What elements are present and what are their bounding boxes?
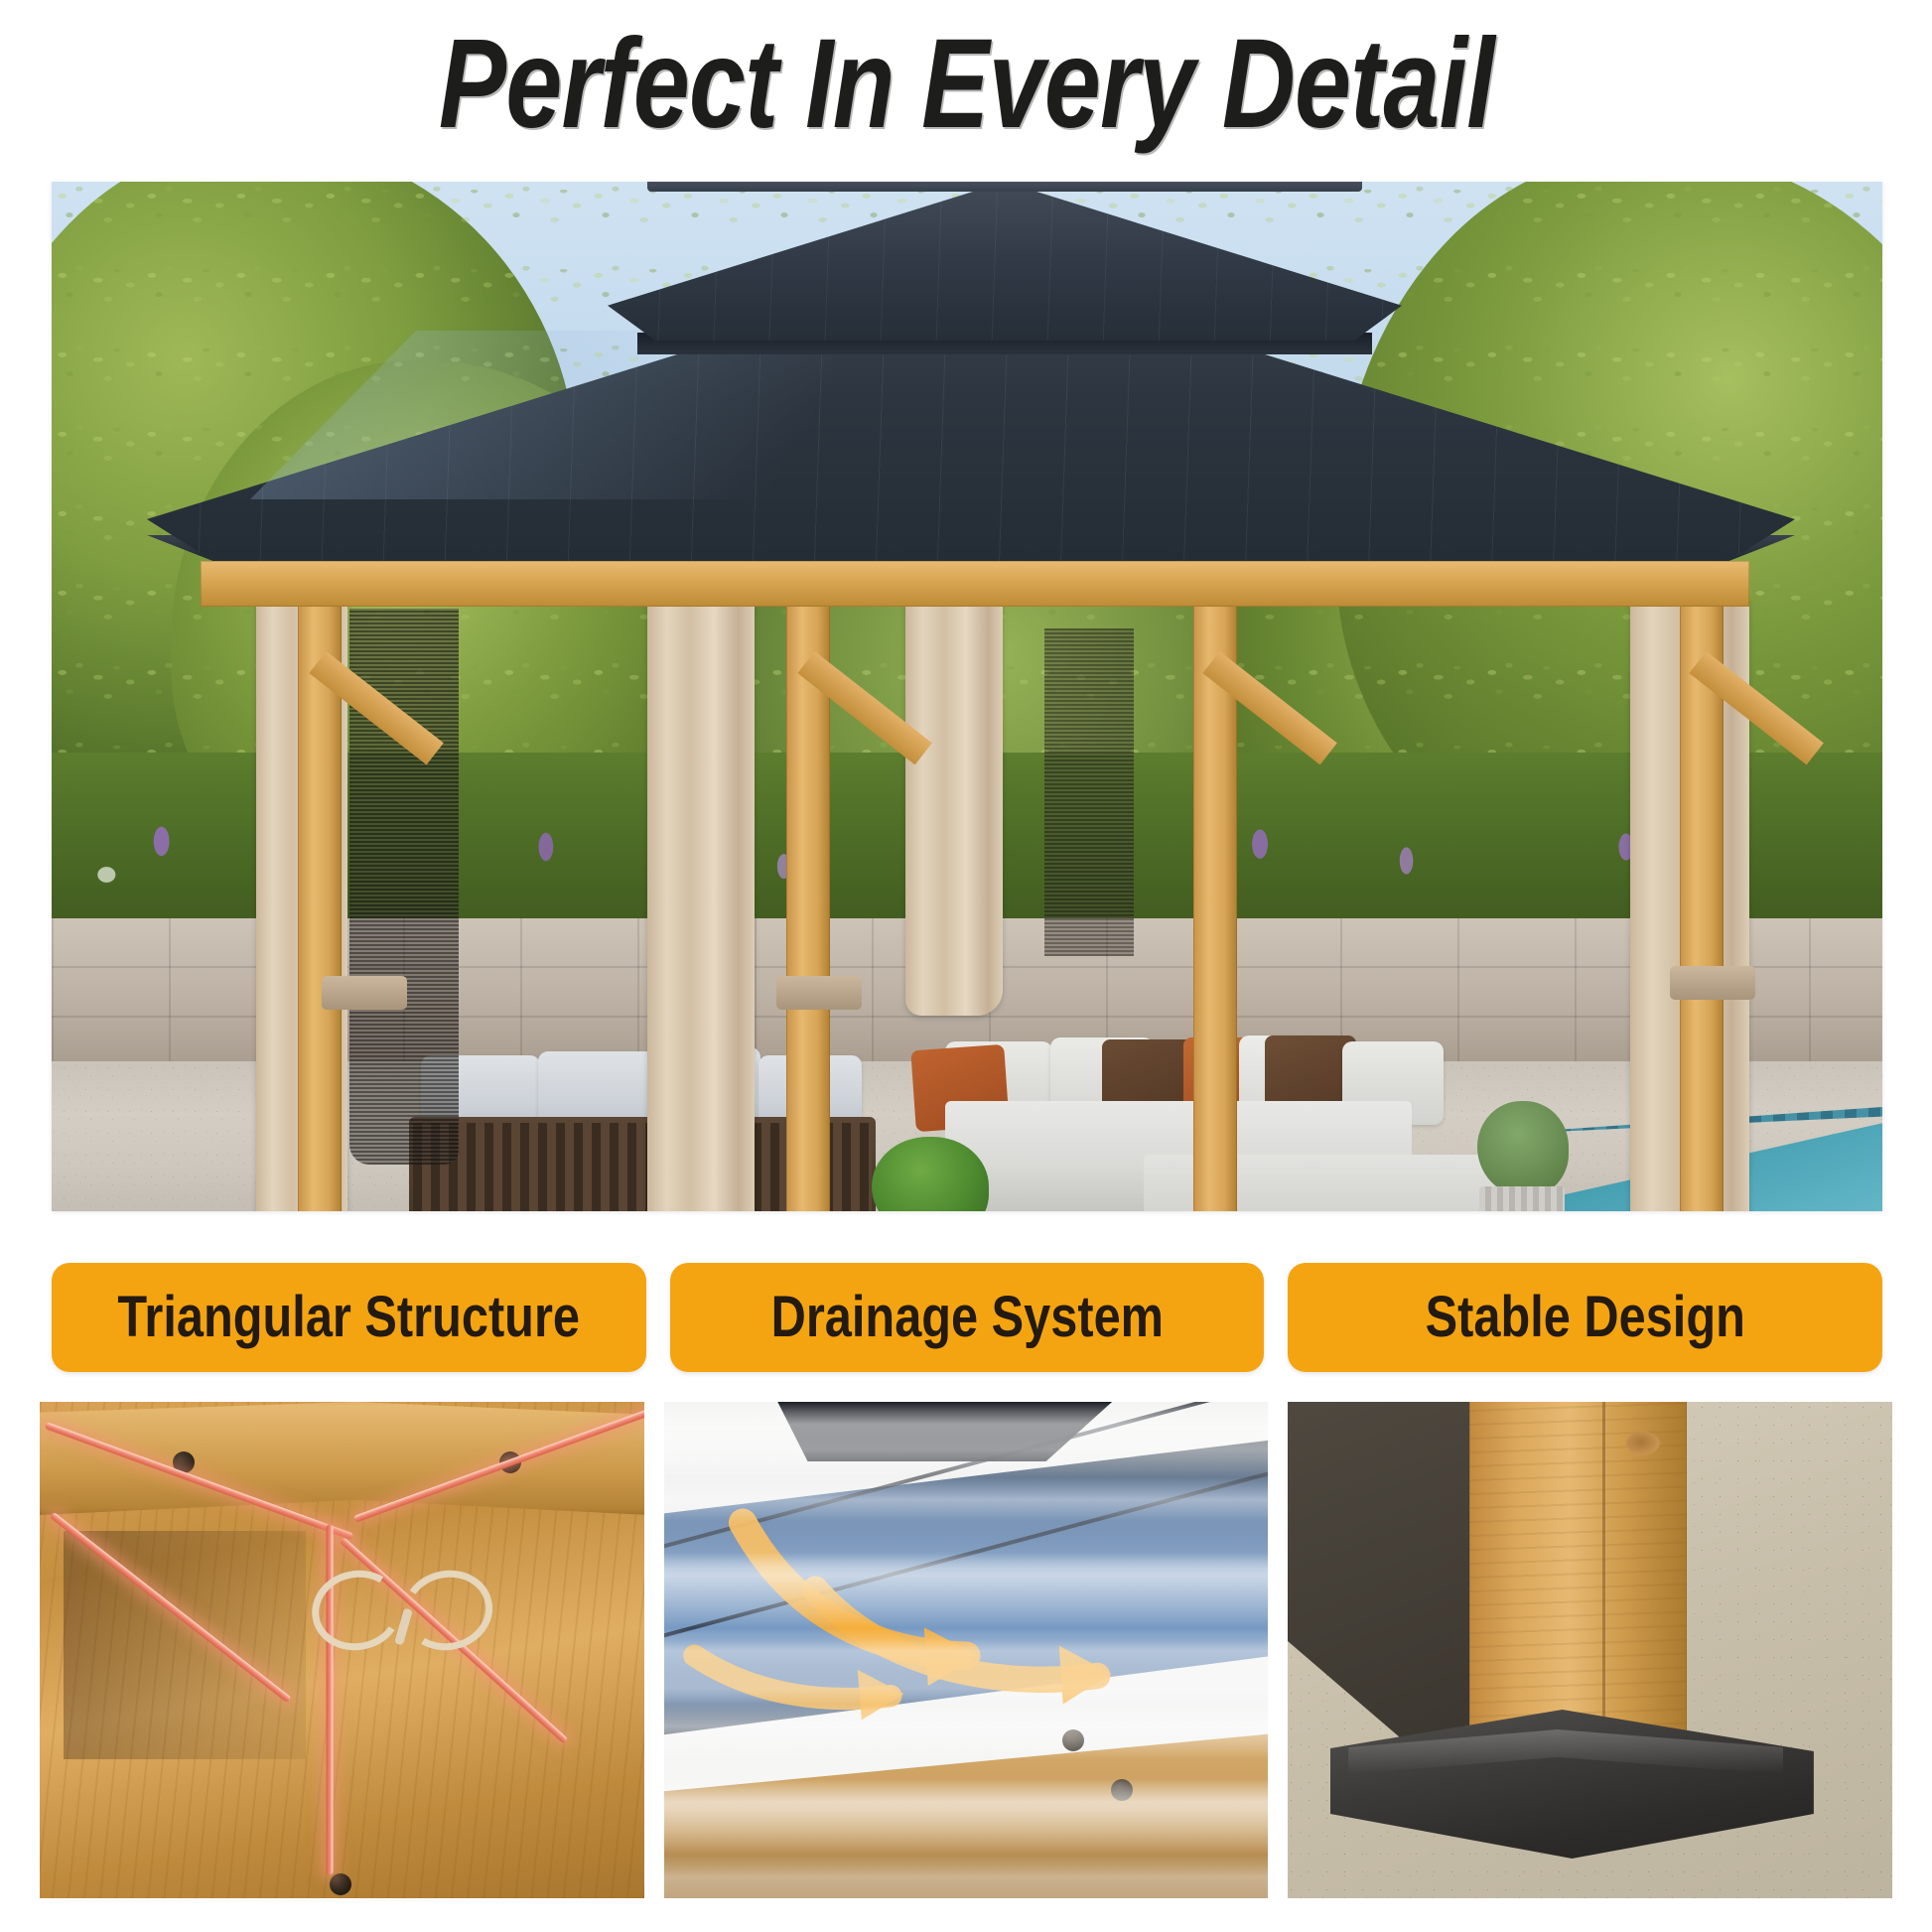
detail-photo-stable-design (1288, 1402, 1892, 1898)
wood-knot (1626, 1432, 1660, 1455)
feature-badge-drainage-system[interactable]: Drainage System (670, 1263, 1265, 1372)
curtain-shadow (64, 1531, 305, 1759)
gazebo-structure (52, 182, 1882, 1211)
bow-loop-left (305, 1562, 410, 1658)
privacy-curtain (647, 599, 755, 1211)
post-corner-edge (1602, 1402, 1605, 1769)
feature-badge-triangular-structure[interactable]: Triangular Structure (52, 1263, 646, 1372)
bolt-icon (330, 1873, 351, 1895)
detail-photo-drainage-system (664, 1402, 1269, 1898)
feature-badge-label: Stable Design (1426, 1289, 1745, 1346)
curtain-tieback (322, 976, 407, 1010)
roof-ridge-cap (647, 182, 1362, 192)
detail-photo-triangular-structure (40, 1402, 644, 1898)
water-flow-arrows (664, 1402, 1269, 1898)
feature-badge-stable-design[interactable]: Stable Design (1288, 1263, 1882, 1372)
gazebo-header-beam (201, 561, 1749, 607)
feature-badge-label: Drainage System (770, 1289, 1163, 1346)
hero-product-photo (52, 182, 1882, 1211)
mosquito-netting-center (1044, 628, 1134, 956)
privacy-curtain (905, 599, 1003, 1016)
product-feature-page: Perfect In Every Detail (0, 0, 1932, 1932)
curtain-tieback (1670, 966, 1755, 1000)
page-title-bar: Perfect In Every Detail (0, 0, 1932, 169)
curtain-tieback (776, 976, 862, 1010)
feature-badge-label: Triangular Structure (118, 1289, 581, 1346)
feature-badge-row: Triangular Structure Drainage System Sta… (52, 1263, 1882, 1372)
roof-upper-tier (608, 182, 1402, 341)
page-title: Perfect In Every Detail (439, 21, 1494, 148)
feature-detail-row (40, 1402, 1892, 1898)
curtain-tie-bow (312, 1571, 493, 1650)
